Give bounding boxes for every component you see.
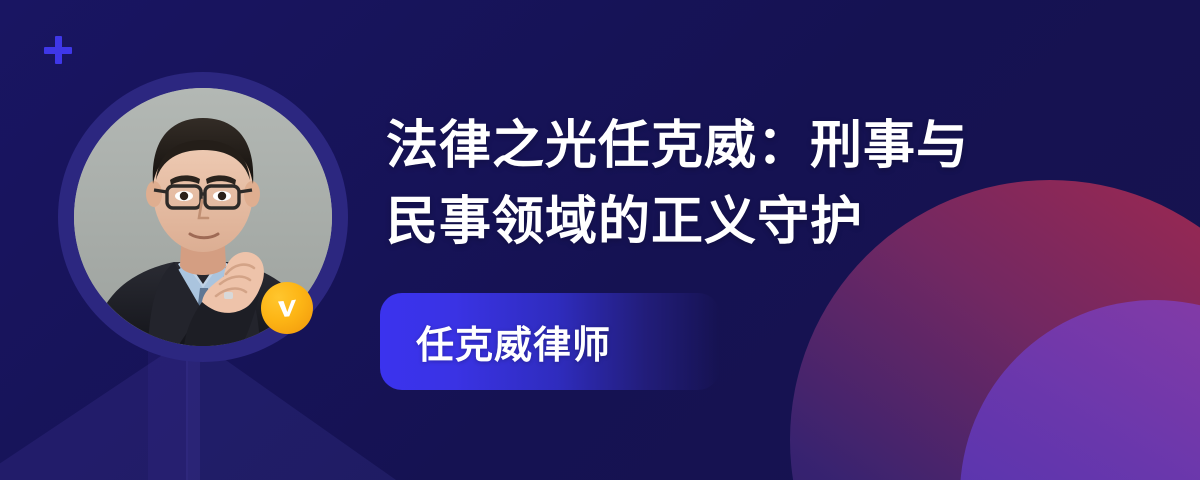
lawyer-name-label: 任克威律师 xyxy=(380,314,611,369)
page-title: 法律之光任克威：刑事与 民事领域的正义守护 xyxy=(386,108,1086,260)
promo-banner: 法律之光任克威：刑事与 民事领域的正义守护 任克威律师 xyxy=(0,0,1200,480)
plus-icon xyxy=(44,36,72,64)
lawyer-name-pill[interactable]: 任克威律师 xyxy=(380,293,720,390)
avatar xyxy=(58,72,348,362)
gradient-blob-inner xyxy=(960,300,1200,480)
verified-badge-icon xyxy=(261,282,313,334)
headline-block: 法律之光任克威：刑事与 民事领域的正义守护 xyxy=(386,108,1086,260)
